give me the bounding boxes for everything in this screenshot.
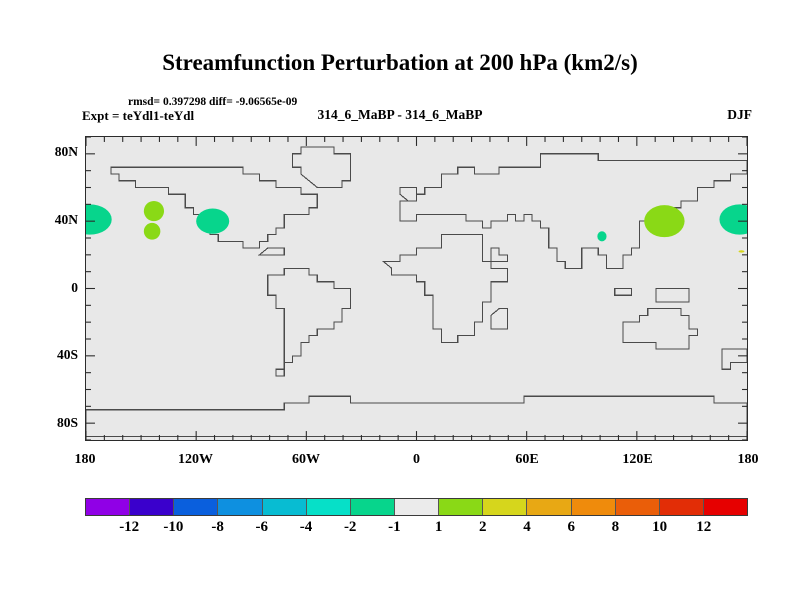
- colorbar-segment: [394, 499, 438, 515]
- map-canvas: [86, 137, 747, 440]
- colorbar-tick-label: -8: [211, 519, 224, 536]
- colorbar-tick-label: 10: [652, 519, 667, 536]
- longitude-tick-label: 120W: [178, 452, 213, 468]
- colorbar-segment: [217, 499, 261, 515]
- colorbar-tick-label: -1: [388, 519, 401, 536]
- anomaly-contour-layer: [86, 201, 747, 253]
- colorbar-segment: [173, 499, 217, 515]
- season-label: DJF: [727, 107, 752, 123]
- latitude-tick-label: 40S: [57, 347, 78, 363]
- longitude-tick-label: 120E: [622, 452, 652, 468]
- colorbar-segment: [306, 499, 350, 515]
- anomaly-east-pacific-south-lobe: [144, 223, 161, 240]
- colorbar-tick-label: 2: [479, 519, 487, 536]
- anomaly-east-asia-lobe: [644, 205, 684, 237]
- longitude-tick-label: 180: [738, 452, 759, 468]
- latitude-tick-label: 80N: [55, 144, 78, 160]
- longitude-tick-label: 60E: [515, 452, 538, 468]
- map-plot-area: [85, 136, 748, 441]
- colorbar-segment: [526, 499, 570, 515]
- axis-tick-layer: [86, 137, 747, 440]
- anomaly-dateline-east-lobe: [719, 204, 747, 234]
- colorbar-segment: [659, 499, 703, 515]
- colorbar-segment: [350, 499, 394, 515]
- colorbar-segment: [86, 499, 129, 515]
- colorbar-segment: [438, 499, 482, 515]
- colorbar-segment: [703, 499, 747, 515]
- climate-contour-figure: Streamfunction Perturbation at 200 hPa (…: [0, 0, 800, 600]
- colorbar-tick-label: 12: [696, 519, 711, 536]
- colorbar-segment: [571, 499, 615, 515]
- colorbar-segment: [262, 499, 306, 515]
- colorbar-tick-label: -6: [256, 519, 269, 536]
- colorbar-tick-label: -10: [163, 519, 183, 536]
- colorbar-segment: [129, 499, 173, 515]
- colorbar: [85, 498, 748, 516]
- longitude-tick-label: 0: [413, 452, 420, 468]
- anomaly-west-pacific-asia-small-lobe: [597, 231, 606, 241]
- colorbar-tick-label: -4: [300, 519, 313, 536]
- latitude-tick-label: 80S: [57, 415, 78, 431]
- latitude-tick-label: 0: [71, 280, 78, 296]
- colorbar-tick-label: -2: [344, 519, 357, 536]
- longitude-tick-label: 180: [75, 452, 96, 468]
- latitude-tick-label: 40N: [55, 212, 78, 228]
- colorbar-tick-label: 4: [523, 519, 531, 536]
- anomaly-central-pacific-lobe: [196, 209, 229, 234]
- anomaly-west-pacific-dateline-west-lobe: [86, 204, 112, 234]
- colorbar-segment: [482, 499, 526, 515]
- anomaly-east-pacific-north-lobe: [144, 201, 164, 221]
- coastline-layer: [86, 147, 747, 436]
- colorbar-tick-label: 6: [567, 519, 575, 536]
- colorbar-tick-label: 8: [612, 519, 620, 536]
- case-comparison-label: 314_6_MaBP - 314_6_MaBP: [0, 107, 800, 123]
- colorbar-tick-label: 1: [435, 519, 443, 536]
- colorbar-segment: [615, 499, 659, 515]
- page-title: Streamfunction Perturbation at 200 hPa (…: [0, 50, 800, 76]
- colorbar-tick-label: -12: [119, 519, 139, 536]
- anomaly-dateline-tiny-speck: [739, 250, 745, 252]
- longitude-tick-label: 60W: [292, 452, 320, 468]
